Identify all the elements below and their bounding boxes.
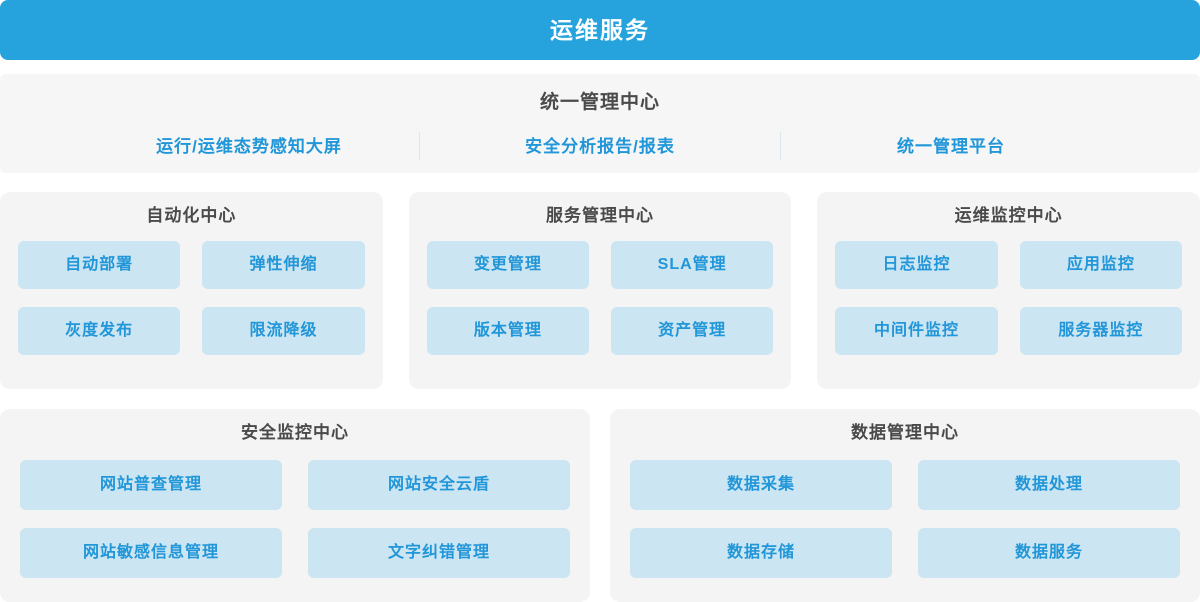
header-bar: 运维服务 [0, 0, 1200, 60]
card-title: 运维监控中心 [835, 207, 1182, 224]
pill-server-monitoring[interactable]: 服务器监控 [1020, 307, 1182, 355]
pill-change-management[interactable]: 变更管理 [427, 241, 589, 289]
pill-log-monitoring[interactable]: 日志监控 [835, 241, 997, 289]
pill-data-service[interactable]: 数据服务 [918, 528, 1180, 578]
pill-asset-management[interactable]: 资产管理 [611, 307, 773, 355]
pill-version-management[interactable]: 版本管理 [427, 307, 589, 355]
card-security-monitoring-center: 安全监控中心 网站普查管理 网站安全云盾 网站敏感信息管理 文字纠错管理 [0, 409, 590, 602]
pill-website-sensitive-info-management[interactable]: 网站敏感信息管理 [20, 528, 282, 578]
pill-grid: 日志监控 应用监控 中间件监控 服务器监控 [835, 241, 1182, 355]
pill-grid: 自动部署 弹性伸缩 灰度发布 限流降级 [18, 241, 365, 355]
card-data-management-center: 数据管理中心 数据采集 数据处理 数据存储 数据服务 [610, 409, 1200, 602]
page-root: 运维服务 统一管理中心 运行/运维态势感知大屏 安全分析报告/报表 统一管理平台… [0, 0, 1200, 602]
band-link-dashboard[interactable]: 运行/运维态势感知大屏 [79, 138, 419, 155]
pill-website-security-cloud-shield[interactable]: 网站安全云盾 [308, 460, 570, 510]
card-ops-monitoring-center: 运维监控中心 日志监控 应用监控 中间件监控 服务器监控 [817, 192, 1200, 389]
band-title: 统一管理中心 [0, 93, 1200, 112]
band-link-management-platform[interactable]: 统一管理平台 [781, 138, 1121, 155]
pill-gray-release[interactable]: 灰度发布 [18, 307, 180, 355]
pill-website-census-management[interactable]: 网站普查管理 [20, 460, 282, 510]
card-title: 自动化中心 [18, 207, 365, 224]
card-title: 安全监控中心 [20, 424, 570, 441]
pill-grid: 变更管理 SLA管理 版本管理 资产管理 [427, 241, 774, 355]
pill-data-processing[interactable]: 数据处理 [918, 460, 1180, 510]
pill-text-correction-management[interactable]: 文字纠错管理 [308, 528, 570, 578]
pill-elastic-scaling[interactable]: 弹性伸缩 [202, 241, 364, 289]
pill-grid: 数据采集 数据处理 数据存储 数据服务 [630, 460, 1180, 578]
pill-auto-deploy[interactable]: 自动部署 [18, 241, 180, 289]
top-card-row: 自动化中心 自动部署 弹性伸缩 灰度发布 限流降级 服务管理中心 变更管理 SL… [0, 192, 1200, 389]
pill-grid: 网站普查管理 网站安全云盾 网站敏感信息管理 文字纠错管理 [20, 460, 570, 578]
pill-sla-management[interactable]: SLA管理 [611, 241, 773, 289]
card-automation-center: 自动化中心 自动部署 弹性伸缩 灰度发布 限流降级 [0, 192, 383, 389]
card-title: 数据管理中心 [630, 424, 1180, 441]
band-link-security-report[interactable]: 安全分析报告/报表 [420, 138, 780, 155]
card-service-management-center: 服务管理中心 变更管理 SLA管理 版本管理 资产管理 [409, 192, 792, 389]
card-title: 服务管理中心 [427, 207, 774, 224]
pill-middleware-monitoring[interactable]: 中间件监控 [835, 307, 997, 355]
band-link-group: 运行/运维态势感知大屏 安全分析报告/报表 统一管理平台 [0, 132, 1200, 160]
pill-data-storage[interactable]: 数据存储 [630, 528, 892, 578]
unified-management-band: 统一管理中心 运行/运维态势感知大屏 安全分析报告/报表 统一管理平台 [0, 74, 1200, 173]
pill-application-monitoring[interactable]: 应用监控 [1020, 241, 1182, 289]
pill-data-collection[interactable]: 数据采集 [630, 460, 892, 510]
pill-rate-limit[interactable]: 限流降级 [202, 307, 364, 355]
page-title: 运维服务 [550, 19, 650, 42]
bottom-card-row: 安全监控中心 网站普查管理 网站安全云盾 网站敏感信息管理 文字纠错管理 数据管… [0, 409, 1200, 602]
